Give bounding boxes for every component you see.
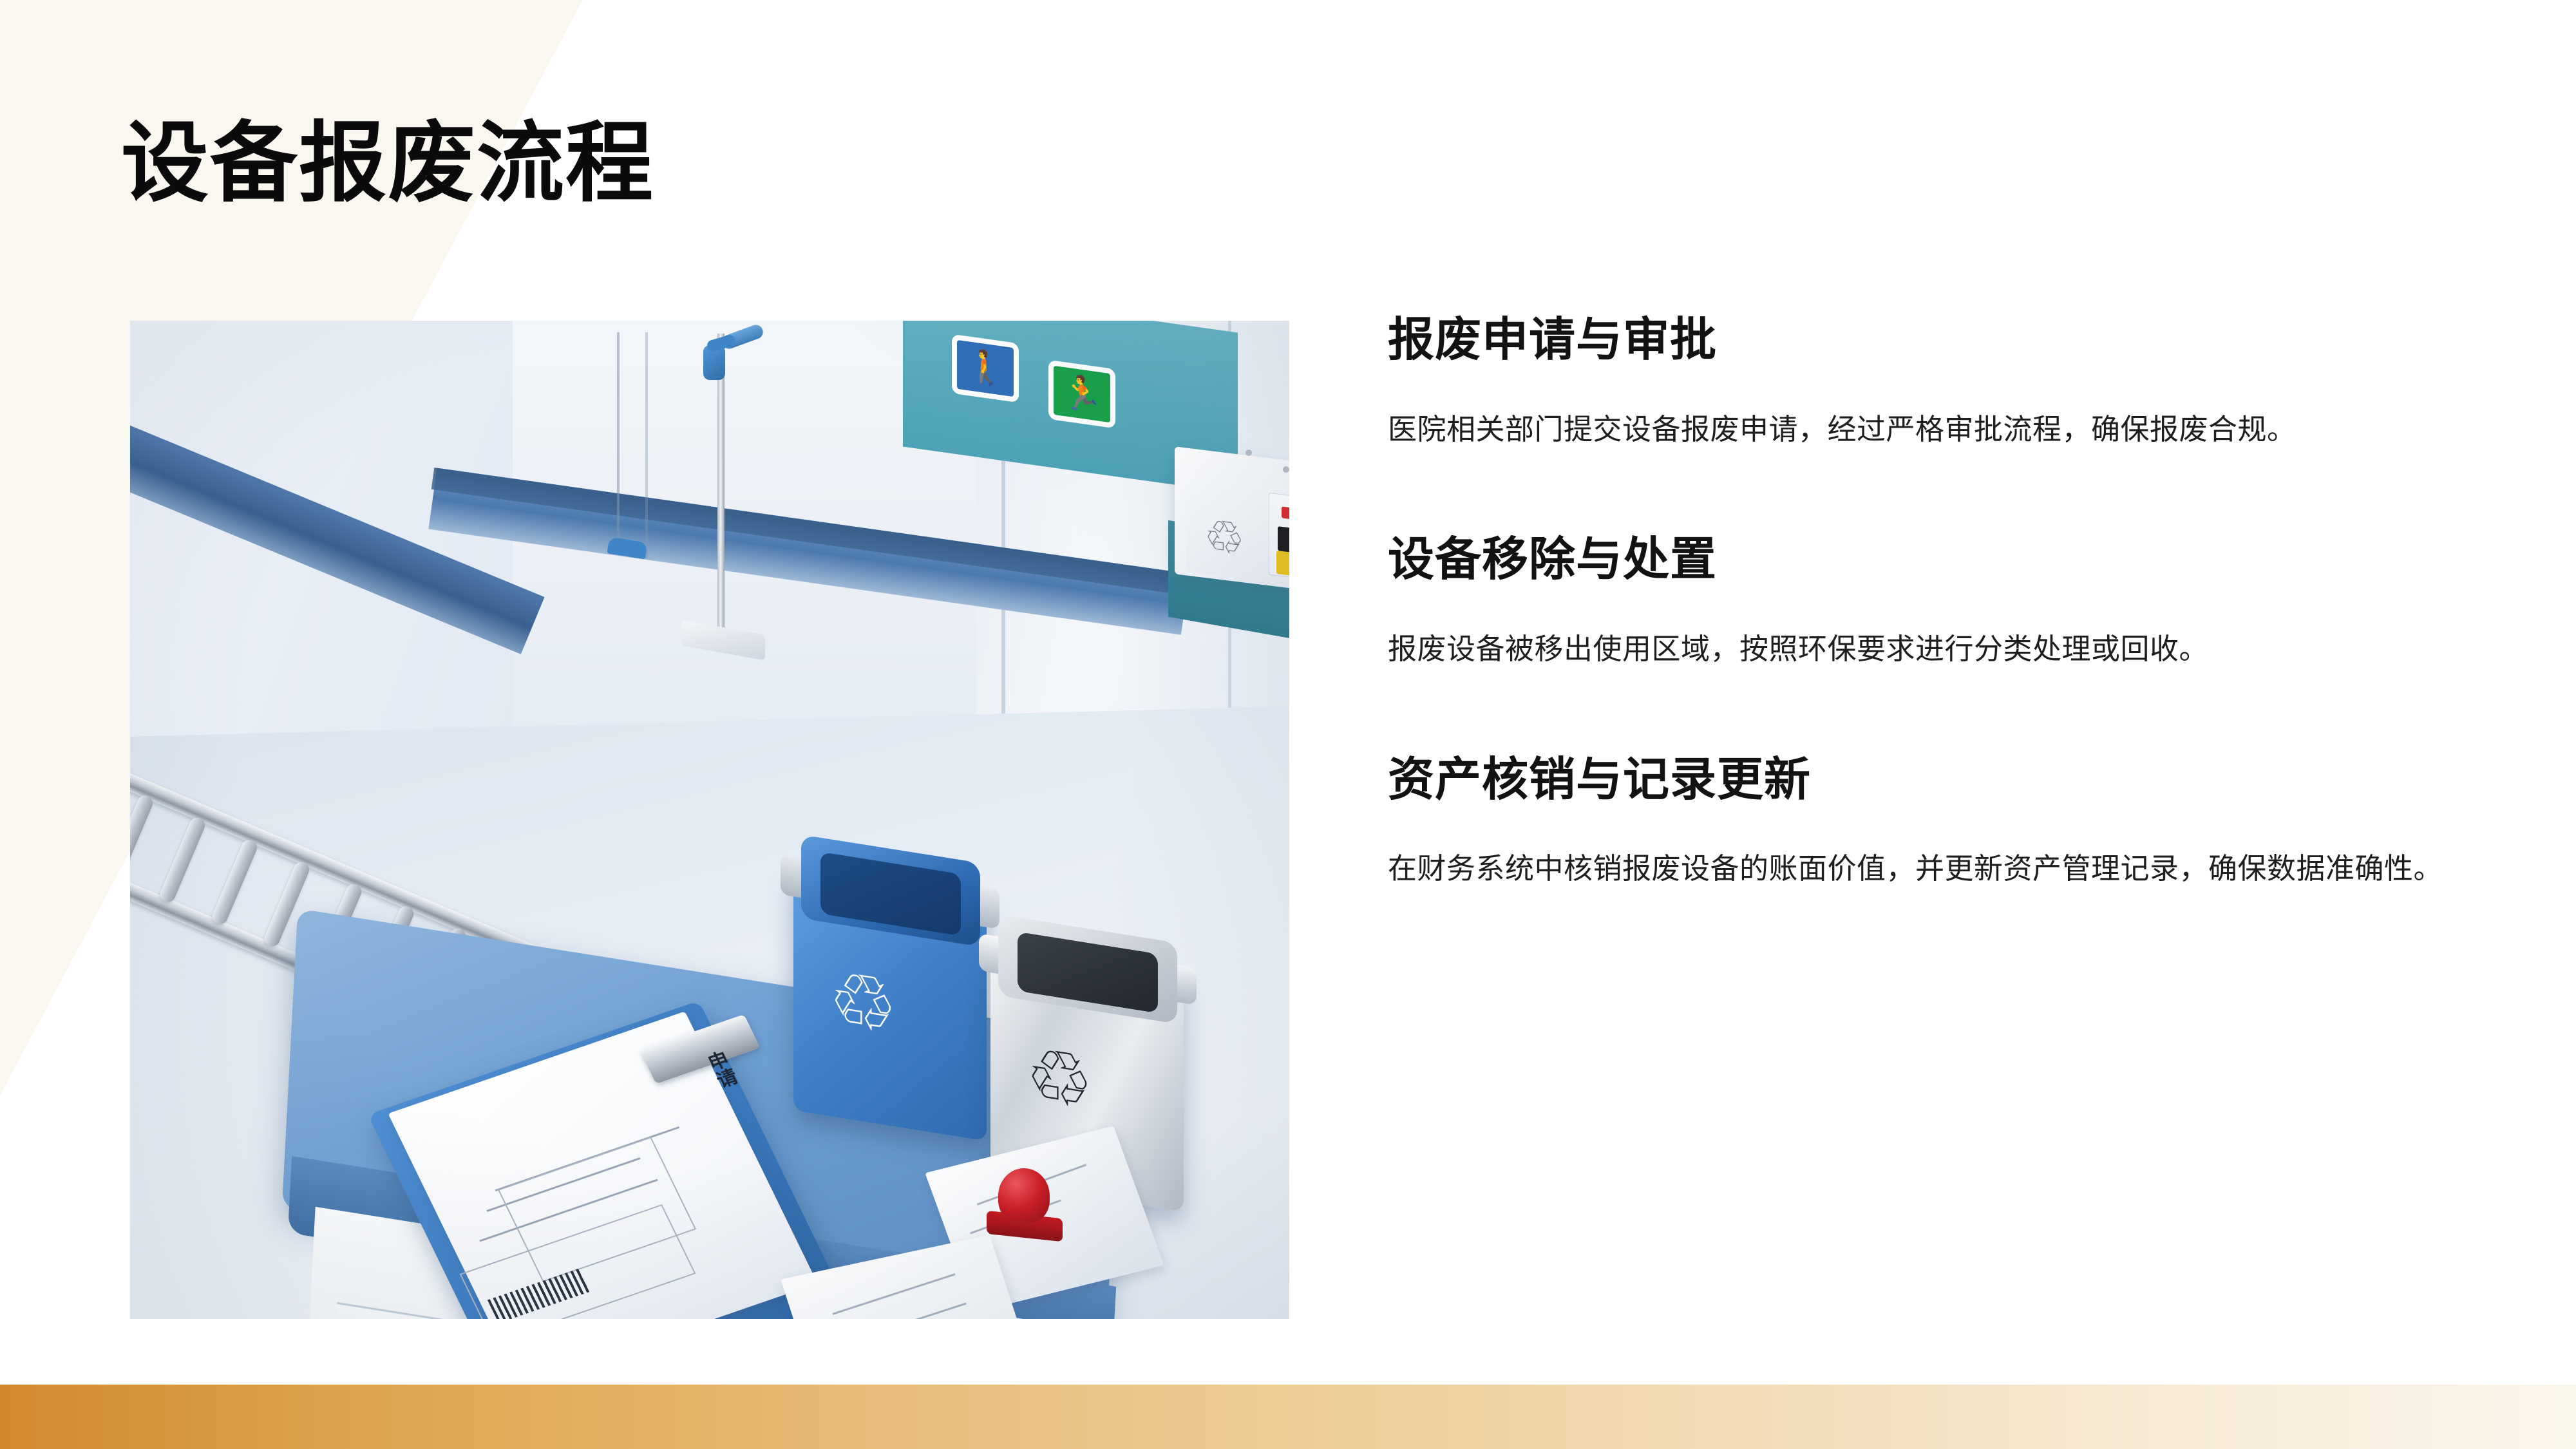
trolley-slat [158, 815, 207, 904]
yellow-switch [1276, 551, 1289, 578]
section-body: 医院相关部门提交设备报废申请，经过严格审批流程，确保报废合规。 [1388, 399, 2483, 460]
trolley-slat [210, 837, 260, 926]
pedestrian-sign-icon: 🚶 [952, 334, 1019, 403]
red-stamp-icon [998, 1168, 1050, 1224]
section-body: 在财务系统中核销报废设备的账面价值，并更新资产管理记录，确保数据准确性。 [1388, 838, 2483, 900]
indicator-led-icon [1282, 506, 1289, 520]
trolley-slat [130, 793, 155, 882]
black-switch [1278, 526, 1289, 554]
hospital-scene-photo: 🚶 🏃 ♲ [130, 321, 1289, 1319]
section-heading: 报废申请与审批 [1388, 313, 2483, 368]
bottom-accent-bar [0, 1385, 2576, 1449]
section-scrap-application: 报废申请与审批 医院相关部门提交设备报废申请，经过严格审批流程，确保报废合规。 [1388, 313, 2483, 460]
recycle-icon-blue-bin: ♲ [824, 958, 902, 1048]
iv-line-2 [645, 332, 648, 559]
recycle-icon-wall: ♲ [1200, 511, 1248, 564]
recycle-icon-steel-bin: ♲ [1021, 1035, 1097, 1123]
section-heading: 设备移除与处置 [1388, 533, 2483, 587]
section-equipment-removal: 设备移除与处置 报废设备被移出使用区域，按照环保要求进行分类处理或回收。 [1388, 533, 2483, 680]
screw-icon-1 [1245, 450, 1252, 456]
section-body: 报废设备被移出使用区域，按照环保要求进行分类处理或回收。 [1388, 618, 2483, 680]
emergency-exit-sign-icon: 🏃 [1048, 360, 1115, 429]
page-title: 设备报废流程 [121, 108, 654, 218]
content-column: 报废申请与审批 医院相关部门提交设备报废申请，经过严格审批流程，确保报废合规。 … [1388, 313, 2483, 900]
section-asset-writeoff: 资产核销与记录更新 在财务系统中核销报废设备的账面价值，并更新资产管理记录，确保… [1388, 753, 2483, 900]
iv-line-1 [617, 332, 620, 545]
section-heading: 资产核销与记录更新 [1388, 753, 2483, 808]
screw-icon-2 [1283, 466, 1289, 473]
